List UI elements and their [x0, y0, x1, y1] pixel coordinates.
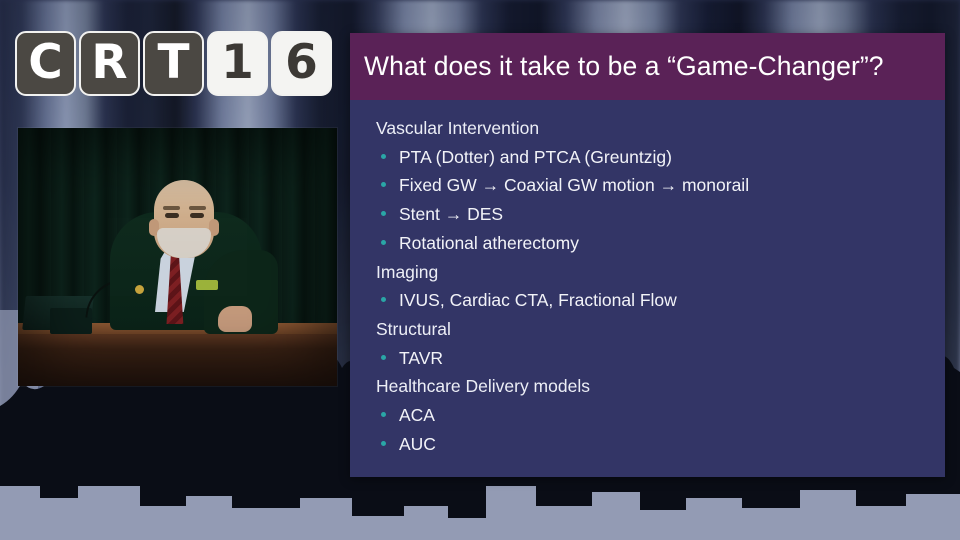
bullet-text: Rotational atherectomy: [399, 229, 579, 258]
bullet-item: Fixed GW → Coaxial GW motion → monorail: [376, 171, 945, 200]
logo-tile-t: T: [143, 31, 204, 96]
bullet-item: PTA (Dotter) and PTCA (Greuntzig): [376, 143, 945, 172]
bullet-item: Rotational atherectomy: [376, 229, 945, 258]
bullet-text: IVUS, Cardiac CTA, Fractional Flow: [399, 286, 677, 315]
section-heading-imaging: Imaging: [376, 258, 945, 287]
bullet-dot-icon: [381, 182, 386, 187]
bullet-dot-icon: [381, 154, 386, 159]
logo-tile-1: 1: [207, 31, 268, 96]
bullet-dot-icon: [381, 240, 386, 245]
section-heading-healthcare-delivery-models: Healthcare Delivery models: [376, 372, 945, 401]
bullet-text: Stent → DES: [399, 200, 503, 229]
slide-header: What does it take to be a “Game-Changer”…: [350, 33, 945, 100]
bullet-item: AUC: [376, 430, 945, 459]
bullet-dot-icon: [381, 355, 386, 360]
bullet-dot-icon: [381, 297, 386, 302]
bullet-item: IVUS, Cardiac CTA, Fractional Flow: [376, 286, 945, 315]
bullet-item: TAVR: [376, 344, 945, 373]
logo-tile-c: C: [15, 31, 76, 96]
bullet-item: ACA: [376, 401, 945, 430]
bullet-item: Stent → DES: [376, 200, 945, 229]
bullet-dot-icon: [381, 441, 386, 446]
bullet-text: PTA (Dotter) and PTCA (Greuntzig): [399, 143, 672, 172]
bullet-text: AUC: [399, 430, 436, 459]
bullet-text: ACA: [399, 401, 435, 430]
bullet-text: TAVR: [399, 344, 443, 373]
logo-tile-6: 6: [271, 31, 332, 96]
slide: What does it take to be a “Game-Changer”…: [350, 33, 945, 477]
section-heading-vascular-intervention: Vascular Intervention: [376, 114, 945, 143]
crt16-logo: C R T 1 6: [15, 31, 332, 96]
bullet-dot-icon: [381, 412, 386, 417]
slide-title: What does it take to be a “Game-Changer”…: [364, 51, 884, 82]
speaker-video[interactable]: [18, 128, 337, 386]
logo-tile-r: R: [79, 31, 140, 96]
bullet-text: Fixed GW → Coaxial GW motion → monorail: [399, 171, 749, 200]
section-heading-structural: Structural: [376, 315, 945, 344]
slide-body: Vascular Intervention PTA (Dotter) and P…: [350, 100, 945, 477]
presentation-stage: C R T 1 6 What does it take to be a “G: [0, 0, 960, 540]
video-vignette: [18, 128, 337, 386]
bullet-dot-icon: [381, 211, 386, 216]
